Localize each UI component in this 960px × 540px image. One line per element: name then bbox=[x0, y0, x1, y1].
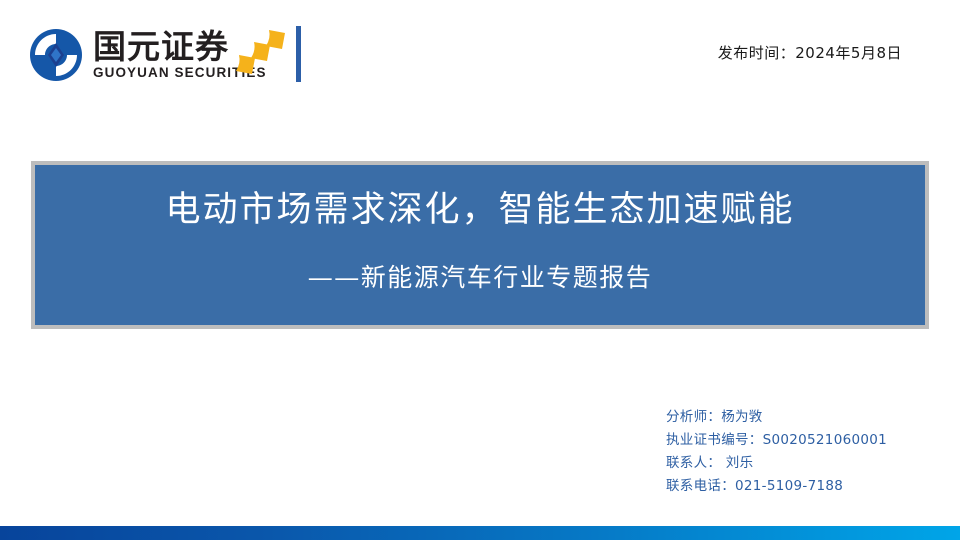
publish-date: 发布时间：2024年5月8日 bbox=[718, 42, 902, 63]
header-vertical-divider bbox=[296, 26, 301, 82]
analyst-name-line: 分析师：杨为敩 bbox=[666, 406, 946, 429]
slide-header: 国元证券 GUOYUAN SECURITIES 发布时间：2024年5月8日 bbox=[0, 0, 960, 110]
contact-phone-line: 联系电话：021-5109-7188 bbox=[666, 475, 946, 498]
analyst-info-block: 分析师：杨为敩 执业证书编号：S0020521060001 联系人： 刘乐 联系… bbox=[666, 406, 946, 498]
report-cover-slide: 国元证券 GUOYUAN SECURITIES 发布时间：2024年5月8日 电… bbox=[0, 0, 960, 540]
contact-person-line: 联系人： 刘乐 bbox=[666, 452, 946, 475]
company-logo: 国元证券 GUOYUAN SECURITIES bbox=[28, 24, 267, 86]
analyst-license-line: 执业证书编号：S0020521060001 bbox=[666, 429, 946, 452]
report-subtitle: ——新能源汽车行业专题报告 bbox=[308, 261, 653, 295]
guoyuan-circle-emblem-icon bbox=[28, 27, 84, 83]
footer-gradient-bar bbox=[0, 526, 960, 540]
report-title: 电动市场需求深化，智能生态加速赋能 bbox=[165, 187, 794, 233]
title-banner: 电动市场需求深化，智能生态加速赋能 ——新能源汽车行业专题报告 bbox=[31, 161, 929, 329]
three-gold-diamonds-icon bbox=[236, 28, 290, 80]
